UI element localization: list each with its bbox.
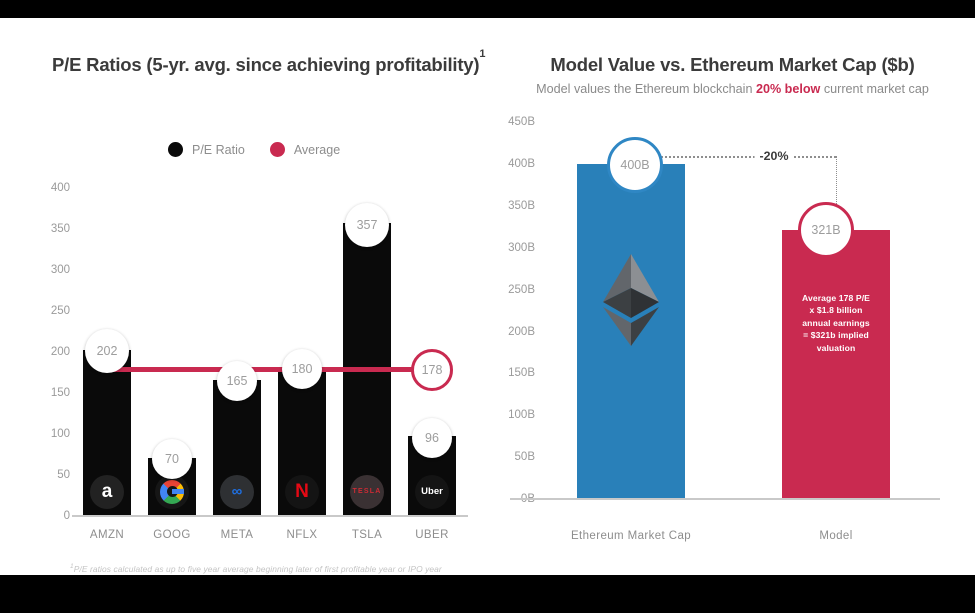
bar-model[interactable]: Average 178 P/E x $1.8 billion annual ea… (782, 230, 890, 498)
bar-amzn[interactable]: a (83, 350, 131, 516)
footnote-text: P/E ratios calculated as up to five year… (74, 564, 442, 574)
letterbox-top-bar (0, 0, 975, 18)
y-tick-200b: 200B (508, 326, 535, 338)
y-tick-200: 200 (51, 346, 70, 358)
y-tick-400b: 400B (508, 158, 535, 170)
y-tick-300: 300 (51, 264, 70, 276)
pe-ratios-panel: P/E Ratios (5-yr. avg. since achieving p… (0, 18, 490, 575)
model-note-line-2: x $1.8 billion (782, 304, 890, 316)
y-tick-300b: 300B (508, 242, 535, 254)
model-x-axis-line (510, 498, 940, 500)
bar-nflx[interactable]: N (278, 368, 326, 515)
y-tick-0: 0 (64, 510, 70, 522)
y-tick-100b: 100B (508, 409, 535, 421)
delta-percent-label: -20% (755, 149, 794, 163)
value-marker-amzn: 202 (85, 329, 129, 373)
y-tick-50: 50 (57, 469, 70, 481)
x-label-amzn: AMZN (90, 529, 124, 541)
model-note-line-5: valuation (782, 342, 890, 354)
x-label-goog: GOOG (153, 529, 190, 541)
y-tick-350b: 350B (508, 200, 535, 212)
model-note-line-4: = $321b implied (782, 329, 890, 341)
y-tick-400: 400 (51, 182, 70, 194)
letterbox-bottom-bar (0, 575, 975, 613)
average-value-marker: 178 (411, 349, 453, 391)
google-logo-icon (155, 475, 189, 509)
y-tick-250: 250 (51, 305, 70, 317)
slide-canvas: P/E Ratios (5-yr. avg. since achieving p… (0, 18, 975, 575)
y-tick-350: 350 (51, 223, 70, 235)
x-label-nflx: NFLX (287, 529, 318, 541)
value-marker-model: 321B (798, 202, 854, 258)
delta-dotline-right (790, 156, 836, 158)
value-marker-nflx: 180 (282, 349, 322, 389)
x-label-ethereum-market-cap: Ethereum Market Cap (571, 530, 691, 542)
amazon-logo-icon: a (90, 475, 124, 509)
model-note-line-1: Average 178 P/E (782, 292, 890, 304)
ethereum-diamond-svg (600, 252, 662, 348)
y-tick-250b: 250B (508, 284, 535, 296)
x-label-uber: UBER (415, 529, 449, 541)
y-tick-150b: 150B (508, 367, 535, 379)
value-marker-ethereum-market-cap: 400B (607, 137, 663, 193)
x-label-tsla: TSLA (352, 529, 382, 541)
value-marker-meta: 165 (217, 361, 257, 401)
value-marker-goog: 70 (152, 439, 192, 479)
y-tick-100: 100 (51, 428, 70, 440)
netflix-logo-icon: N (285, 475, 319, 509)
model-bar-note: Average 178 P/E x $1.8 billion annual ea… (782, 292, 890, 354)
x-axis-line (72, 515, 468, 517)
y-tick-150: 150 (51, 387, 70, 399)
pe-ratios-footnote: 1P/E ratios calculated as up to five yea… (70, 563, 442, 574)
pe-ratios-plot: 0 50 100 150 200 250 300 350 400 a ∞ (0, 18, 490, 575)
ethereum-logo-icon (600, 252, 662, 353)
tesla-logo-icon: TESLA (350, 475, 384, 509)
model-vs-marketcap-panel: Model Value vs. Ethereum Market Cap ($b)… (490, 18, 975, 575)
model-note-line-3: annual earnings (782, 317, 890, 329)
y-tick-50b: 50B (515, 451, 535, 463)
average-line (107, 367, 432, 372)
bar-ethereum-market-cap[interactable] (577, 164, 685, 498)
model-chart-plot: 0B 50B 100B 150B 200B 250B 300B 350B 400… (490, 18, 975, 575)
y-tick-450b: 450B (508, 116, 535, 128)
uber-logo-icon: Uber (415, 475, 449, 509)
value-marker-tsla: 357 (345, 203, 389, 247)
x-label-model: Model (819, 530, 852, 542)
value-marker-uber: 96 (412, 418, 452, 458)
meta-logo-icon: ∞ (220, 475, 254, 509)
x-label-meta: META (221, 529, 254, 541)
